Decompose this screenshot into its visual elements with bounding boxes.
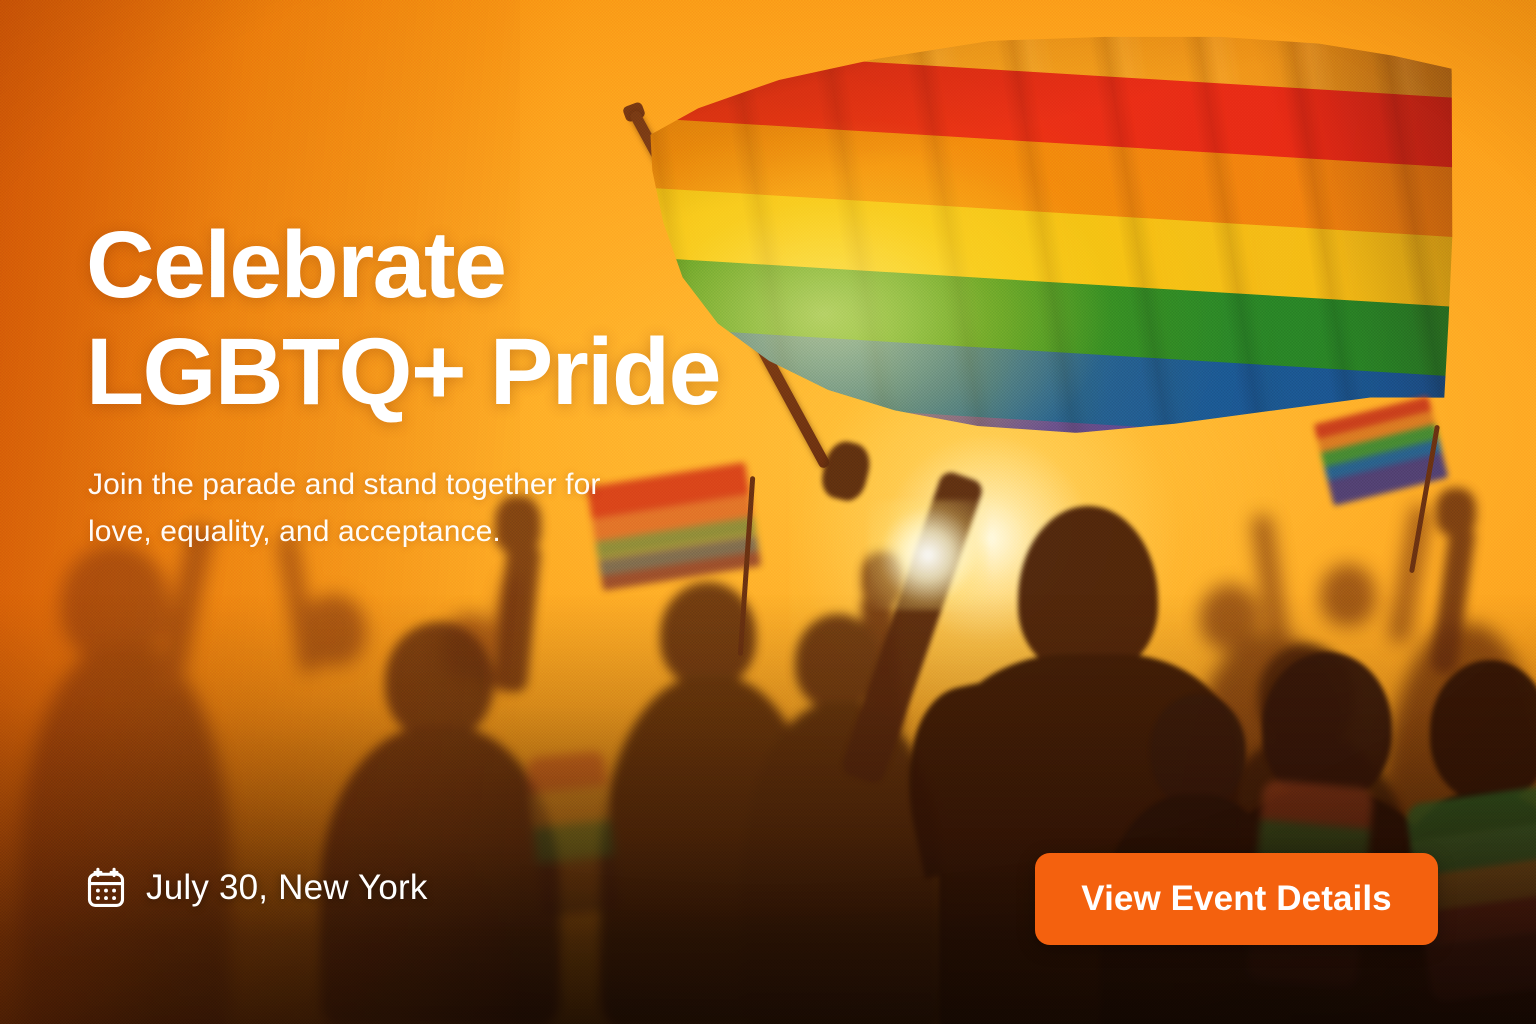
banner-content: Celebrate LGBTQ+ Pride Join the parade a… [0,0,1536,1024]
calendar-icon [84,866,128,910]
event-date-location: July 30, New York [146,868,428,908]
subtitle-text: Join the parade and stand together for l… [88,461,601,556]
view-event-details-button[interactable]: View Event Details [1035,853,1438,945]
pride-event-banner: Celebrate LGBTQ+ Pride Join the parade a… [0,0,1536,1024]
event-meta: July 30, New York [84,866,428,910]
page-title: Celebrate LGBTQ+ Pride [86,212,720,427]
